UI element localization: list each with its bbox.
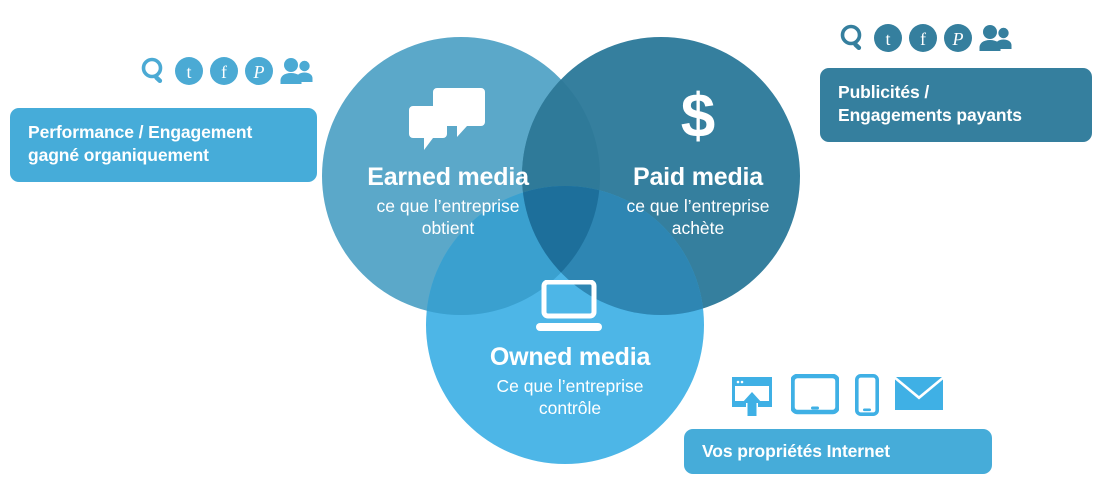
callout-earned-line1: Performance / Engagement — [28, 121, 299, 144]
mobile-phone-icon — [855, 374, 879, 416]
svg-text:f: f — [920, 29, 926, 49]
browser-upload-icon — [729, 374, 775, 416]
facebook-icon: f — [209, 56, 239, 86]
icon-strip-owned — [729, 374, 943, 416]
callout-earned-line2: gagné organiquement — [28, 144, 299, 167]
callout-owned-line1: Vos propriétés Internet — [702, 440, 974, 463]
users-group-icon — [978, 23, 1012, 53]
search-icon — [838, 23, 868, 53]
svg-text:P: P — [952, 29, 964, 49]
icon-strip-earned: t f P — [139, 56, 313, 86]
facebook-icon: f — [908, 23, 938, 53]
callout-owned-media[interactable]: Vos propriétés Internet — [684, 429, 992, 474]
tumblr-icon: t — [174, 56, 204, 86]
email-envelope-icon — [895, 376, 943, 414]
infographic-canvas: $ Earned media ce que l’entreprise obtie… — [0, 0, 1106, 492]
users-group-icon — [279, 56, 313, 86]
tumblr-icon: t — [873, 23, 903, 53]
search-icon — [139, 56, 169, 86]
pinterest-icon: P — [943, 23, 973, 53]
svg-text:P: P — [253, 62, 265, 82]
svg-text:t: t — [186, 62, 191, 82]
svg-text:f: f — [221, 62, 227, 82]
callout-paid-media[interactable]: Publicités / Engagements payants — [820, 68, 1092, 142]
tablet-icon — [791, 374, 839, 416]
callout-earned-media[interactable]: Performance / Engagement gagné organique… — [10, 108, 317, 182]
callout-paid-line1: Publicités / — [838, 81, 1074, 104]
icon-strip-paid: t f P — [838, 23, 1012, 53]
svg-text:t: t — [885, 29, 890, 49]
pinterest-icon: P — [244, 56, 274, 86]
callout-paid-line2: Engagements payants — [838, 104, 1074, 127]
